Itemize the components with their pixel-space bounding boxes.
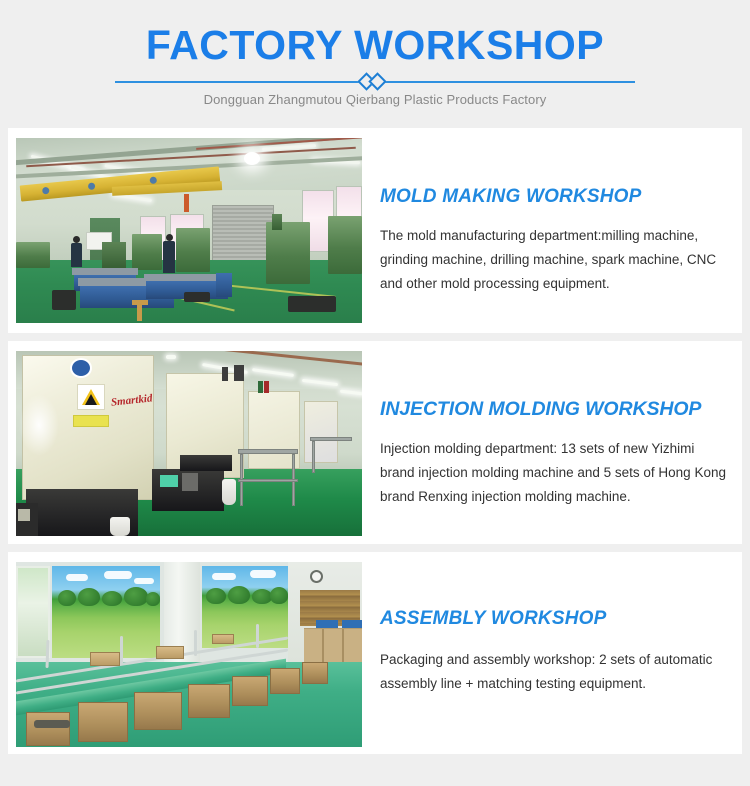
section-body: Injection molding department: 13 sets of…: [380, 437, 728, 509]
workshop-text-column: INJECTION MOLDING WORKSHOP Injection mol…: [380, 341, 732, 544]
factory-workshop-page: FACTORY WORKSHOP Dongguan Zhangmutou Qie…: [0, 0, 750, 786]
workshop-text-column: ASSEMBLY WORKSHOP Packaging and assembly…: [380, 552, 732, 754]
wall-mural: [52, 566, 160, 658]
assembly-workshop-photo: [16, 562, 362, 747]
window: [16, 566, 50, 658]
workshop-text-column: MOLD MAKING WORKSHOP The mold manufactur…: [380, 128, 732, 333]
caution-sticker: [73, 415, 109, 427]
diamond-right-icon: [368, 72, 386, 90]
section-heading: INJECTION MOLDING WORKSHOP: [380, 398, 732, 421]
injection-molding-workshop-photo: Smartkid: [16, 351, 362, 536]
warning-label-icon: [77, 384, 105, 410]
workshop-card: MOLD MAKING WORKSHOP The mold manufactur…: [8, 128, 742, 333]
section-body: Packaging and assembly workshop: 2 sets …: [380, 648, 728, 696]
blue-label-icon: [70, 358, 92, 378]
section-body: The mold manufacturing department:millin…: [380, 224, 728, 296]
mold-making-workshop-photo: [16, 138, 362, 323]
header-divider: [115, 70, 635, 94]
section-heading: ASSEMBLY WORKSHOP: [380, 608, 732, 630]
page-subtitle: Dongguan Zhangmutou Qierbang Plastic Pro…: [0, 92, 750, 107]
section-heading: MOLD MAKING WORKSHOP: [380, 186, 732, 208]
wall-clock-icon: [310, 570, 323, 583]
page-title: FACTORY WORKSHOP: [0, 22, 750, 68]
page-header: FACTORY WORKSHOP Dongguan Zhangmutou Qie…: [0, 0, 750, 126]
injection-molding-machine: Smartkid: [22, 355, 154, 500]
double-diamond-icon: [345, 70, 405, 94]
workshop-card: ASSEMBLY WORKSHOP Packaging and assembly…: [8, 552, 742, 754]
workshop-card: Smartkid INJECTION MOLDING WORKSHOP Inje…: [8, 341, 742, 544]
